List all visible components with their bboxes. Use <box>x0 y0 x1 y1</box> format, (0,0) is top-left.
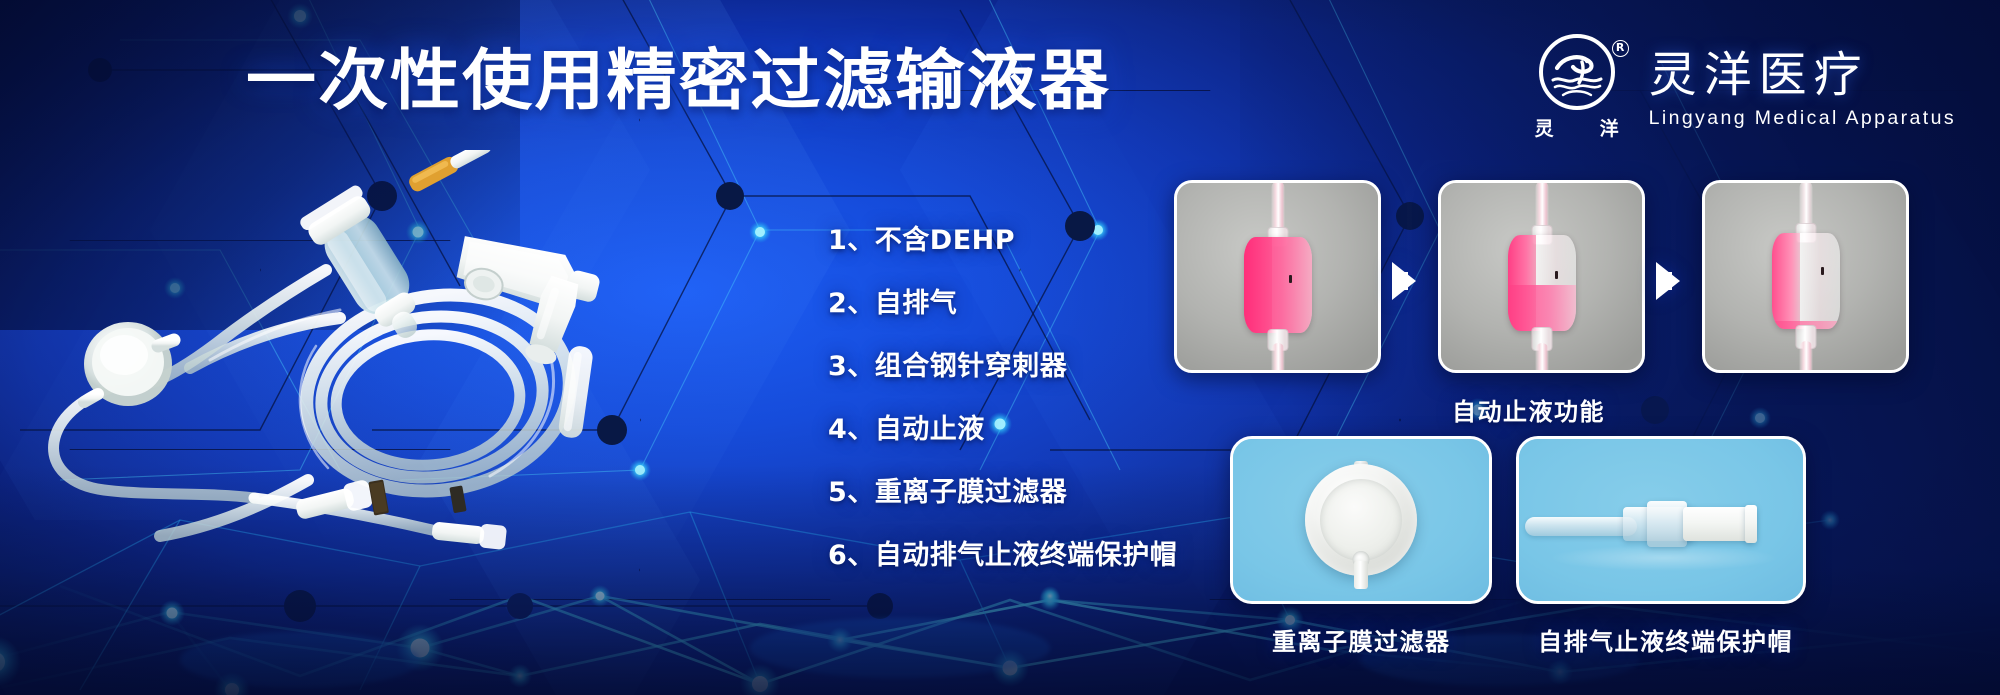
filter-membrane <box>1320 479 1402 561</box>
caption-heavy-ion-filter: 重离子膜过滤器 <box>1272 622 1451 657</box>
feature-list: 1、不含DEHP 2、自排气 3、组合钢针穿刺器 4、自动止液 5、重离子膜过滤… <box>828 218 1177 572</box>
drip-chamber <box>1772 233 1840 329</box>
chamber-fluid <box>1244 237 1312 333</box>
feature-item-6: 6、自动排气止液终端保护帽 <box>828 533 1177 572</box>
brand-name-en: Lingyang Medical Apparatus <box>1649 107 1956 130</box>
filter-disc-body <box>1305 464 1417 576</box>
feature-item-1: 1、不含DEHP <box>828 218 1177 257</box>
feature-item-4: 4、自动止液 <box>828 407 1177 446</box>
photo-card-end-cap <box>1516 436 1806 604</box>
brand-name-block: 灵洋医疗 Lingyang Medical Apparatus <box>1649 50 1956 130</box>
photo-card-chamber-half <box>1438 180 1645 373</box>
logo-emblem-characters: 灵 洋 <box>1535 114 1619 141</box>
logo-char-ling: 灵 <box>1535 114 1554 141</box>
chamber-fluid <box>1508 285 1576 331</box>
registered-trademark-icon: R <box>1612 40 1629 57</box>
drip-chamber <box>1508 235 1576 331</box>
brand-name-cn: 灵洋医疗 <box>1649 50 1956 100</box>
page-title: 一次性使用精密过滤输液器 <box>246 48 1111 114</box>
photo-reflection <box>1549 545 1779 571</box>
logo-char-yang: 洋 <box>1600 114 1619 141</box>
feature-item-2: 2、自排气 <box>828 281 1177 320</box>
chamber-marker <box>1289 275 1292 283</box>
tube-lower <box>1799 341 1812 373</box>
feature-item-5: 5、重离子膜过滤器 <box>828 470 1177 509</box>
logo-emblem-icon: R 灵 洋 <box>1535 34 1627 146</box>
product-banner: 一次性使用精密过滤输液器 R 灵 洋 灵洋医疗 <box>0 0 2000 695</box>
feature-item-3: 3、组合钢针穿刺器 <box>828 344 1177 383</box>
photo-card-chamber-full <box>1174 180 1381 373</box>
caption-auto-stop: 自动止液功能 <box>1452 392 1605 427</box>
infusion-set-main-photo <box>40 150 700 550</box>
photo-card-chamber-empty <box>1702 180 1909 373</box>
chamber-marker <box>1555 271 1558 279</box>
photo-card-heavy-ion-filter <box>1230 436 1492 604</box>
connector-tubing <box>1525 517 1637 536</box>
chamber-shell-right <box>1800 233 1839 329</box>
chamber-marker <box>1821 267 1824 275</box>
logo-circle-icon <box>1539 34 1615 110</box>
cap-rim <box>1745 505 1757 543</box>
tube-lower <box>1271 343 1284 373</box>
filter-port-bottom <box>1354 561 1368 589</box>
arrow-right-icon-1 <box>1392 262 1416 300</box>
luer-lock-collar <box>1647 501 1687 547</box>
tube-lower <box>1535 343 1548 373</box>
chamber-shell-left <box>1772 233 1801 329</box>
arrow-right-icon-2 <box>1656 262 1680 300</box>
caption-end-cap: 自排气止液终端保护帽 <box>1538 622 1793 657</box>
brand-logo: R 灵 洋 灵洋医疗 Lingyang Medical Apparatus <box>1535 34 1956 146</box>
drip-chamber <box>1244 237 1312 333</box>
